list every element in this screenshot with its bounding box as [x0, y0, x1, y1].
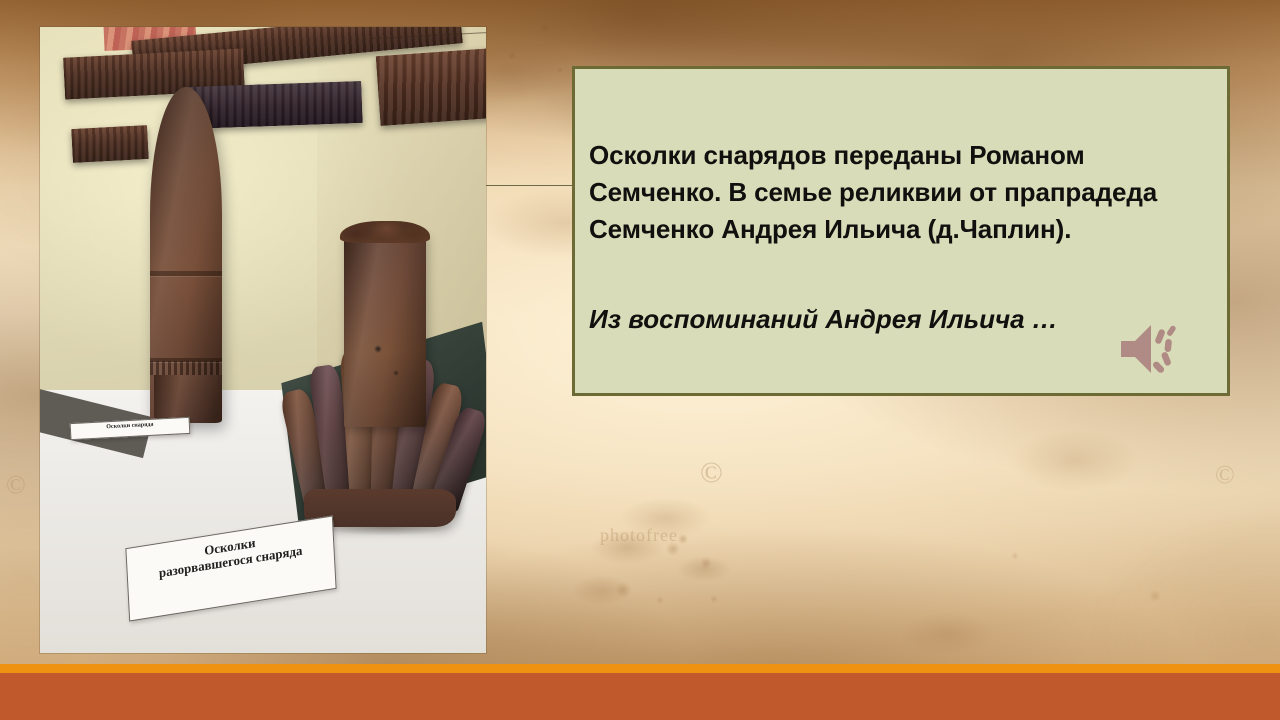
photo-exploded-shell — [288, 223, 486, 563]
shell-base — [154, 375, 218, 423]
shell-band — [150, 358, 222, 362]
photo-wood-plank — [71, 125, 149, 163]
exhibit-photo: Осколки разорвавшегося снаряда Осколки с… — [40, 27, 486, 653]
photo-artillery-shell — [150, 87, 222, 423]
shell-fragment-crown — [340, 221, 430, 243]
connector-line — [485, 185, 573, 186]
shell-fragment-body — [344, 231, 426, 427]
shell-band — [150, 271, 222, 276]
callout-paragraph-primary: Осколки снарядов переданы Романом Семчен… — [589, 137, 1213, 248]
shell-knurling — [150, 361, 222, 375]
text-callout-box: Осколки снарядов переданы Романом Семчен… — [572, 66, 1230, 396]
slide-canvas: © © © photofree photofree — [0, 0, 1280, 720]
bottom-footer-band — [0, 673, 1280, 720]
speaker-icon[interactable] — [1117, 319, 1189, 379]
bottom-accent-stripe — [0, 664, 1280, 673]
callout-content: Осколки снарядов переданы Романом Семчен… — [589, 137, 1213, 338]
photo-wood-plank — [376, 48, 486, 126]
photo-wood-plank — [185, 81, 362, 129]
